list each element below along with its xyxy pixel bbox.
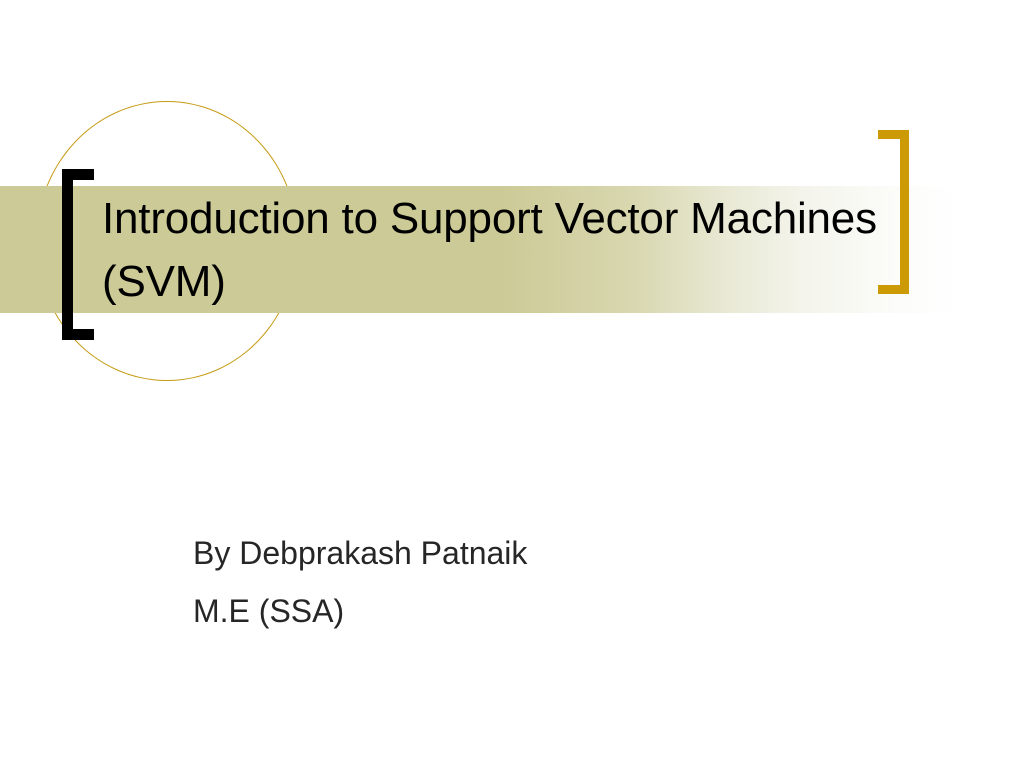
title-slide: Introduction to Support Vector Machines … xyxy=(0,0,1024,768)
subtitle-line-degree: M.E (SSA) xyxy=(193,582,527,640)
slide-subtitle: By Debprakash Patnaik M.E (SSA) xyxy=(193,524,527,640)
left-bracket-icon xyxy=(62,169,94,340)
subtitle-line-author: By Debprakash Patnaik xyxy=(193,524,527,582)
slide-title: Introduction to Support Vector Machines … xyxy=(102,187,902,313)
